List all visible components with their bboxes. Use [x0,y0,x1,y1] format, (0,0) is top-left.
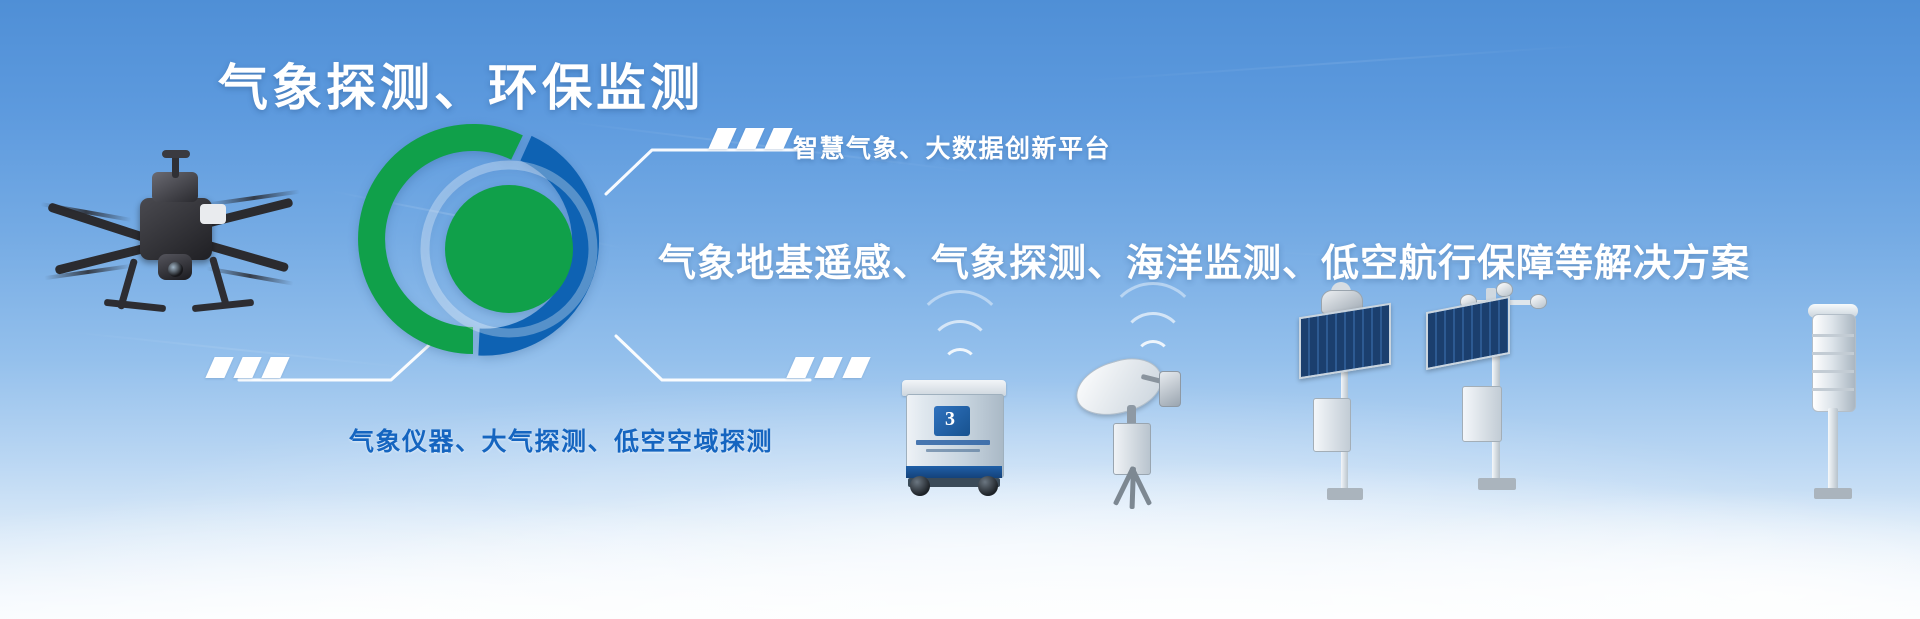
slash-bar [261,357,289,378]
cart-caption-line [916,440,990,445]
dish-feed-head [1159,371,1181,407]
cart-brand-logo [934,406,970,436]
solar-panel [1299,303,1391,380]
slash-bar [842,357,870,378]
slash-bar [786,357,814,378]
banner-headline: 气象探测、环保监测 [218,48,704,120]
label-smart-meteorology: 智慧气象、大数据创新平台 [793,129,1111,165]
sensor-column-fin [1812,388,1854,391]
drone-leg [209,256,230,308]
station-enclosure-box [1313,398,1351,452]
sensor-column-base [1814,488,1852,499]
dish-antenna-illustration [1075,355,1195,505]
hero-banner: 气象探测、环保监测 [0,0,1920,619]
drone-illustration [40,150,300,350]
anemometer-cup [1496,282,1513,297]
drone-camera-lens [168,262,183,277]
contrail-streak [1080,44,1599,82]
solar-weather-station-illustration [1275,290,1415,505]
sensor-column-illustration [1790,300,1880,505]
signal-waves-icon [905,318,1015,384]
slash-marks-top [713,128,788,149]
slash-bar [764,128,792,149]
slash-marks-bottom-right [791,357,866,378]
anemometer-cup [1530,294,1547,309]
donut-ring-graphic [393,133,625,365]
slash-bar [205,357,233,378]
sensor-column-stem [1828,408,1838,492]
lidar-cart-illustration [900,380,1008,502]
cart-wheel [910,476,930,496]
wave-arc [913,290,1007,384]
tripod-leg [1130,467,1136,509]
drone-skid [104,299,166,312]
drone-gps-antenna [162,150,190,158]
slash-bar [736,128,764,149]
sensor-column-fin [1812,370,1854,373]
sensor-column-body [1812,314,1856,412]
slash-bar [814,357,842,378]
station-base [1327,488,1363,500]
anemometer-station-illustration [1420,270,1600,505]
cart-subcaption-line [926,449,980,452]
cart-wheel [978,476,998,496]
sensor-column-fin [1812,334,1854,337]
slash-marks-bottom-left [210,357,285,378]
slash-bar [708,128,736,149]
station-enclosure-box [1462,386,1502,442]
label-instruments: 气象仪器、大气探测、低空空域探测 [349,422,773,458]
slash-bar [233,357,261,378]
dish-reflector [1070,350,1169,424]
sensor-column-fin [1812,352,1854,355]
station-base [1478,478,1516,490]
drone-side-module [200,204,226,224]
